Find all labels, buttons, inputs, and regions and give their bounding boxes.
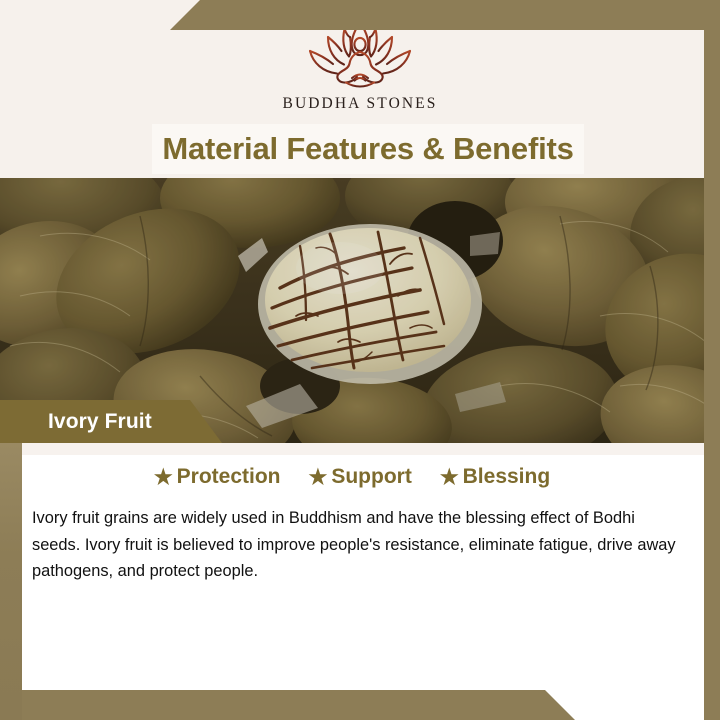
photo-caption-band: Ivory Fruit — [0, 400, 222, 443]
feature-list: ★ Protection ★ Support ★ Blessing — [22, 465, 682, 489]
frame-band-left-gradient — [0, 443, 22, 720]
feature-label-protection: Protection — [177, 465, 281, 489]
page-title-panel: Material Features & Benefits — [152, 124, 584, 174]
star-icon: ★ — [154, 467, 173, 488]
brand-logo: BUDDHA STONES — [0, 18, 720, 113]
content-top-divider — [22, 443, 704, 455]
feature-item-blessing: ★ Blessing — [440, 465, 550, 489]
feature-item-support: ★ Support — [309, 465, 412, 489]
frame-band-right — [704, 0, 720, 720]
photo-caption-label: Ivory Fruit — [48, 410, 152, 434]
page-title: Material Features & Benefits — [162, 131, 573, 167]
star-icon: ★ — [440, 467, 459, 488]
description-text: Ivory fruit grains are widely used in Bu… — [32, 505, 680, 585]
star-icon: ★ — [309, 467, 328, 488]
product-info-card: BUDDHA STONES Material Features & Benefi… — [0, 0, 720, 720]
content-section: ★ Protection ★ Support ★ Blessing Ivory … — [22, 443, 704, 720]
feature-label-support: Support — [331, 465, 411, 489]
brand-name: BUDDHA STONES — [283, 95, 438, 113]
feature-label-blessing: Blessing — [463, 465, 551, 489]
feature-item-protection: ★ Protection — [154, 465, 281, 489]
